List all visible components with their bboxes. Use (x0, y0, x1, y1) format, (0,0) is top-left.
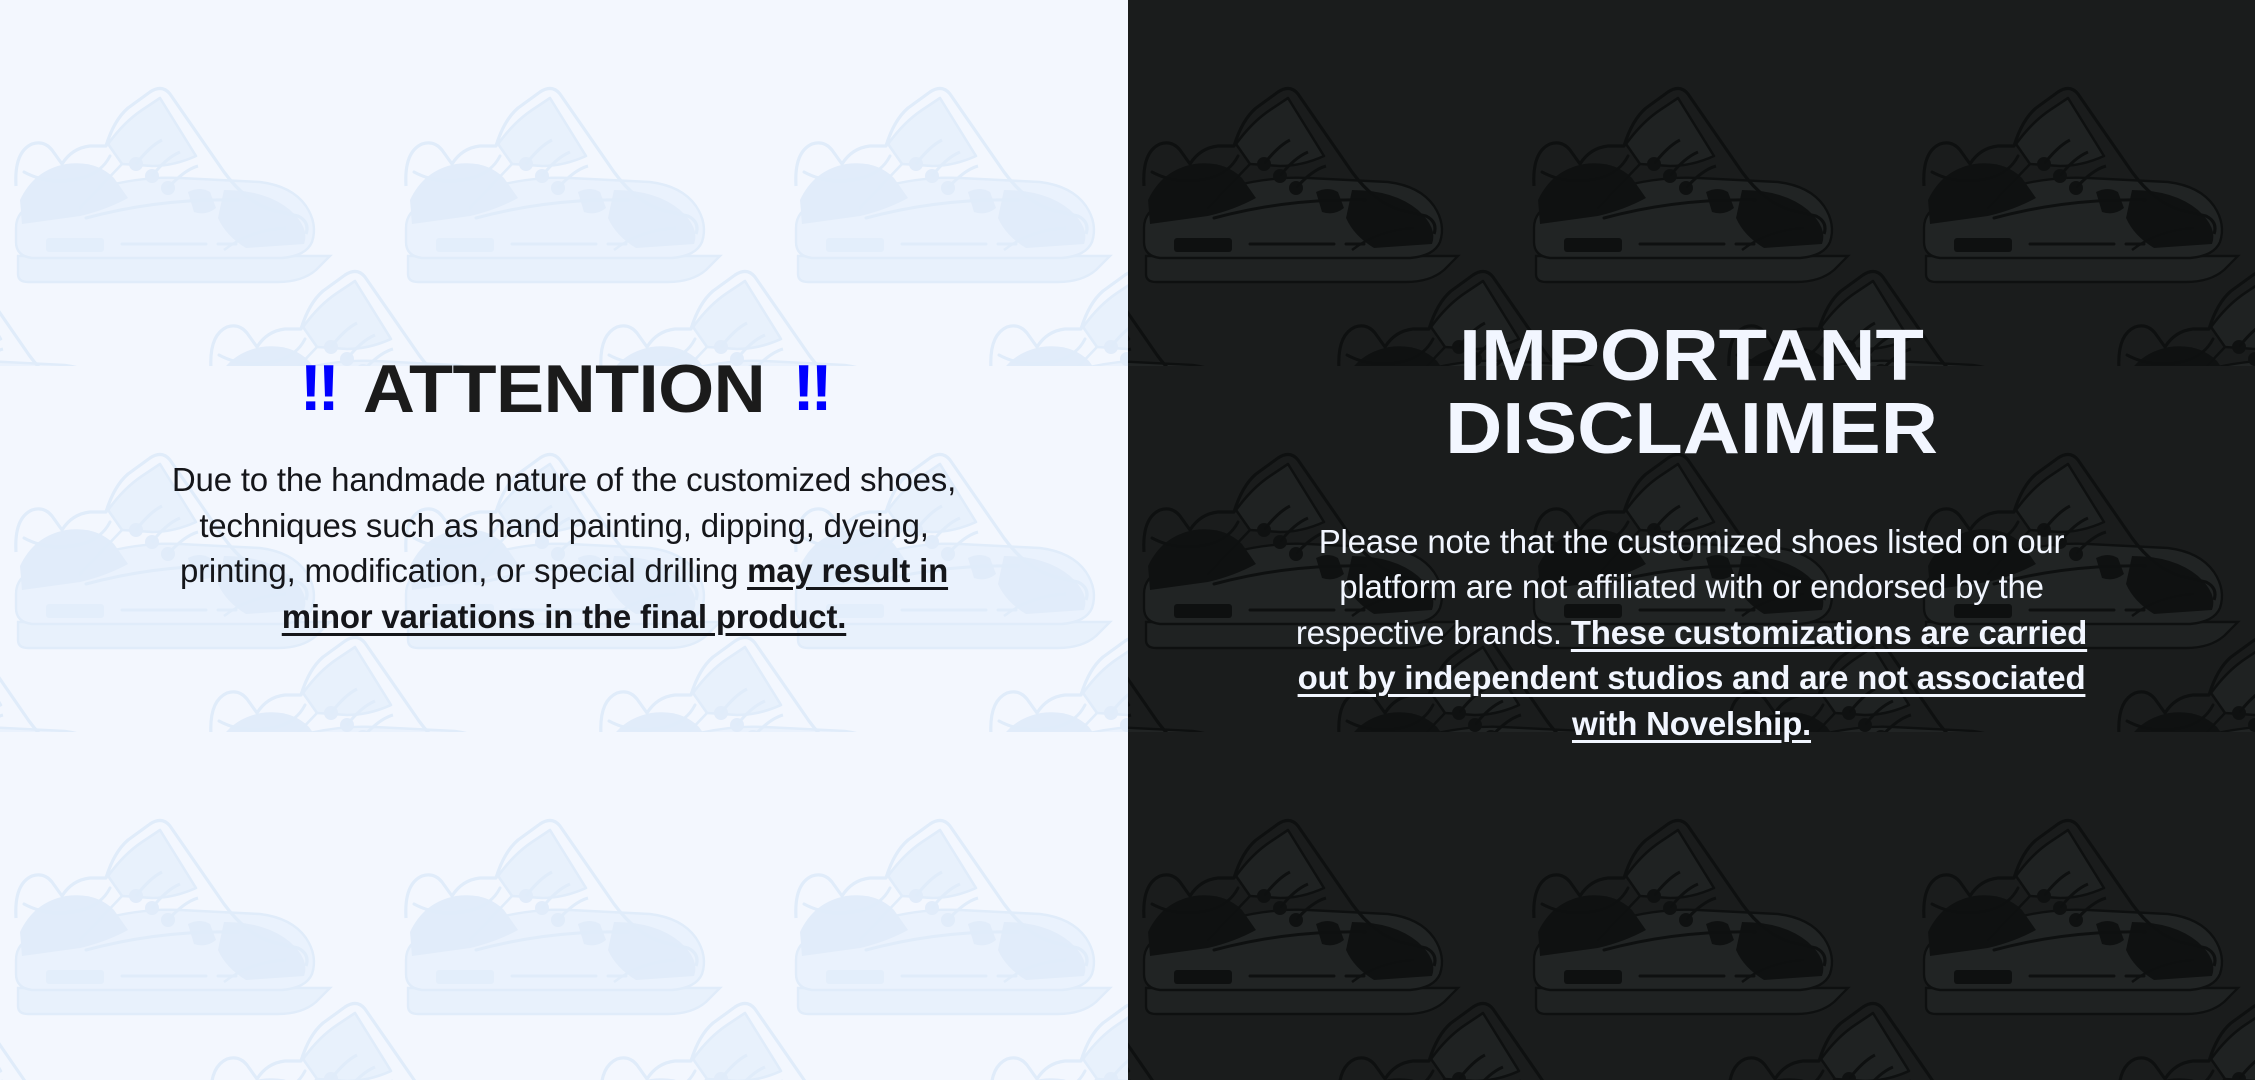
attention-body: Due to the handmade nature of the custom… (164, 457, 964, 639)
disclaimer-body: Please note that the customized shoes li… (1277, 519, 2107, 747)
double-exclamation-right-icon: ‼ (793, 356, 828, 421)
disclaimer-panel: IMPORTANT DISCLAIMER Please note that th… (1128, 0, 2255, 1080)
double-exclamation-left-icon: ‼ (300, 356, 335, 421)
attention-content: ‼ ATTENTION ‼ Due to the handmade nature… (0, 0, 1128, 639)
disclaimer-heading: IMPORTANT DISCLAIMER (1128, 320, 2255, 467)
attention-panel: ‼ ATTENTION ‼ Due to the handmade nature… (0, 0, 1128, 1080)
attention-heading: ‼ ATTENTION ‼ (0, 355, 1128, 423)
attention-heading-text: ATTENTION (363, 355, 765, 423)
disclaimer-banner: ‼ ATTENTION ‼ Due to the handmade nature… (0, 0, 2255, 1080)
disclaimer-heading-line1: IMPORTANT (1459, 320, 1924, 393)
disclaimer-content: IMPORTANT DISCLAIMER Please note that th… (1128, 0, 2255, 747)
disclaimer-heading-line2: DISCLAIMER (1445, 393, 1938, 466)
